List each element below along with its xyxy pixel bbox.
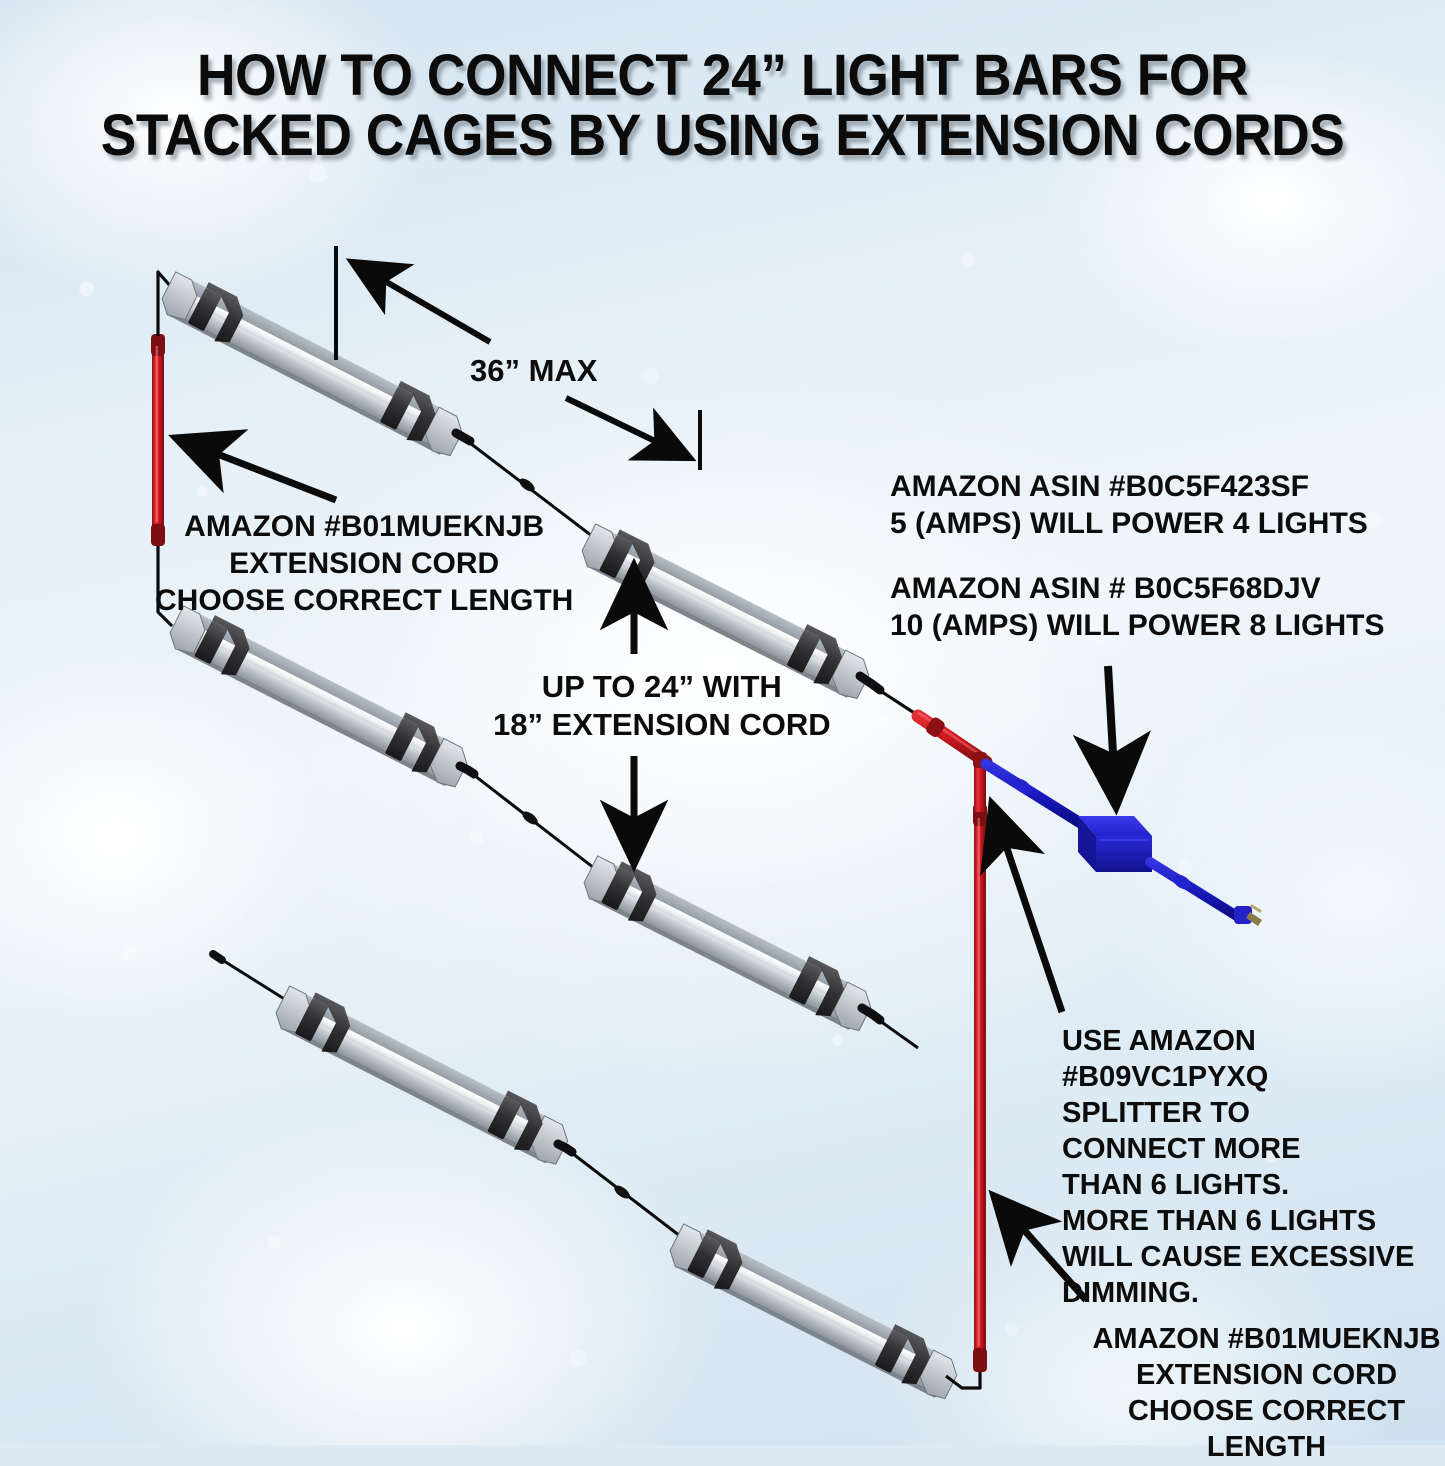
light-bar-row2-left <box>164 601 475 793</box>
label-36-max: 36” MAX <box>470 352 597 390</box>
label-asin-10amp: AMAZON ASIN # B0C5F68DJV 10 (AMPS) WILL … <box>890 570 1384 644</box>
light-bar-row2-right <box>578 851 879 1036</box>
arrow-to-splitter <box>992 804 1062 1012</box>
arrow-extension-cord-left <box>176 438 336 500</box>
arrow-to-power-supply <box>1108 666 1116 806</box>
link-cable-row3 <box>558 1144 680 1236</box>
light-bar-row3-right <box>664 1219 965 1404</box>
link-cable-row2 <box>460 766 594 868</box>
tail-cable-row2 <box>862 1008 918 1048</box>
light-bar-row3-left <box>270 981 576 1170</box>
power-supply-brick <box>1078 816 1152 872</box>
label-asin-5amp: AMAZON ASIN #B0C5F423SF 5 (AMPS) WILL PO… <box>890 468 1368 542</box>
lead-cable-row3 <box>213 954 286 1000</box>
label-up-to-24: UP TO 24” WITH 18” EXTENSION CORD <box>493 668 831 745</box>
extension-cord-right <box>973 804 987 1372</box>
label-extension-cord-left: AMAZON #B01MUEKNJB EXTENSION CORD CHOOSE… <box>155 508 573 620</box>
barrel-plug <box>1234 906 1262 926</box>
infographic-canvas: HOW TO CONNECT 24” LIGHT BARS FOR STACKE… <box>0 0 1445 1445</box>
light-bar-row1-left <box>156 267 471 461</box>
power-splitter <box>918 713 987 812</box>
label-extension-cord-right: AMAZON #B01MUEKNJB EXTENSION CORD CHOOSE… <box>1088 1322 1445 1466</box>
label-splitter: USE AMAZON #B09VC1PYXQ SPLITTER TO CONNE… <box>1062 1024 1445 1312</box>
cable-to-splitter <box>860 676 922 718</box>
